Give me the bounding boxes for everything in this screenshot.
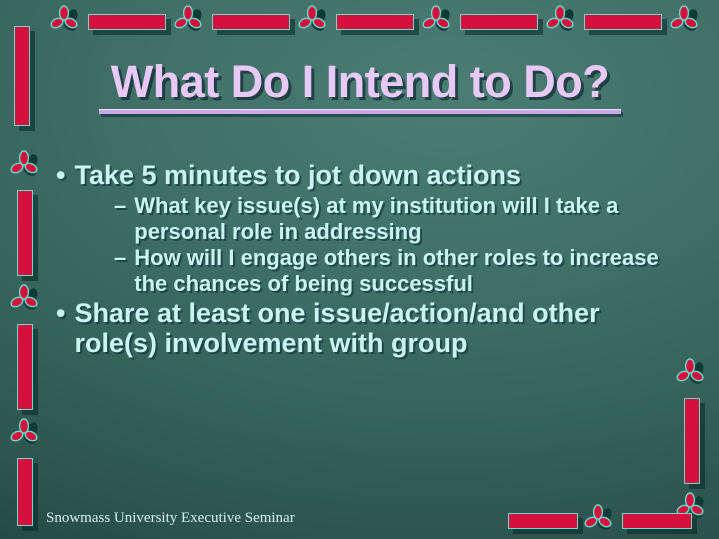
red-bar-ornament (684, 398, 700, 484)
red-bar-ornament (622, 513, 692, 529)
bullet-text: Share at least one issue/action/and othe… (74, 298, 672, 360)
bullet-text: Take 5 minutes to jot down actions (74, 160, 672, 191)
red-bar-ornament (17, 190, 33, 276)
three-leaf-sprig-icon (50, 5, 84, 39)
three-leaf-sprig-icon (298, 5, 332, 39)
bullet-list: •Take 5 minutes to jot down actions–What… (56, 160, 672, 361)
red-bar-ornament (17, 324, 33, 410)
red-bar-ornament (17, 458, 33, 526)
three-leaf-sprig-icon (670, 5, 704, 39)
three-leaf-sprig-icon (422, 5, 456, 39)
red-bar-ornament (508, 513, 578, 529)
dash-marker-icon: – (114, 193, 126, 219)
three-leaf-sprig-icon (174, 5, 208, 39)
three-leaf-sprig-icon (546, 5, 580, 39)
red-bar-ornament (460, 14, 538, 30)
sub-bullet-item: –What key issue(s) at my institution wil… (114, 193, 672, 244)
three-leaf-sprig-icon (10, 418, 44, 452)
red-bar-ornament (88, 14, 166, 30)
bullet-item: •Take 5 minutes to jot down actions (56, 160, 672, 191)
red-bar-ornament (336, 14, 414, 30)
dash-marker-icon: – (114, 245, 126, 271)
bullet-item: •Share at least one issue/action/and oth… (56, 298, 672, 360)
sub-bullet-item: –How will I engage others in other roles… (114, 245, 672, 296)
title-block: What Do I Intend to Do? (60, 58, 660, 114)
bullet-text: What key issue(s) at my institution will… (134, 193, 672, 244)
three-leaf-sprig-icon (10, 284, 44, 318)
red-bar-ornament (14, 26, 30, 126)
three-leaf-sprig-icon (10, 150, 44, 184)
bullet-text: How will I engage others in other roles … (134, 245, 672, 296)
three-leaf-sprig-icon (584, 504, 618, 538)
page-title: What Do I Intend to Do? (60, 58, 660, 105)
three-leaf-sprig-icon (676, 358, 710, 392)
bullet-marker-icon: • (56, 298, 65, 329)
red-bar-ornament (584, 14, 662, 30)
title-underline (99, 109, 621, 114)
footer-text: Snowmass University Executive Seminar (46, 510, 295, 527)
bullet-marker-icon: • (56, 160, 65, 191)
red-bar-ornament (212, 14, 290, 30)
slide-canvas: What Do I Intend to Do? •Take 5 minutes … (0, 0, 719, 539)
